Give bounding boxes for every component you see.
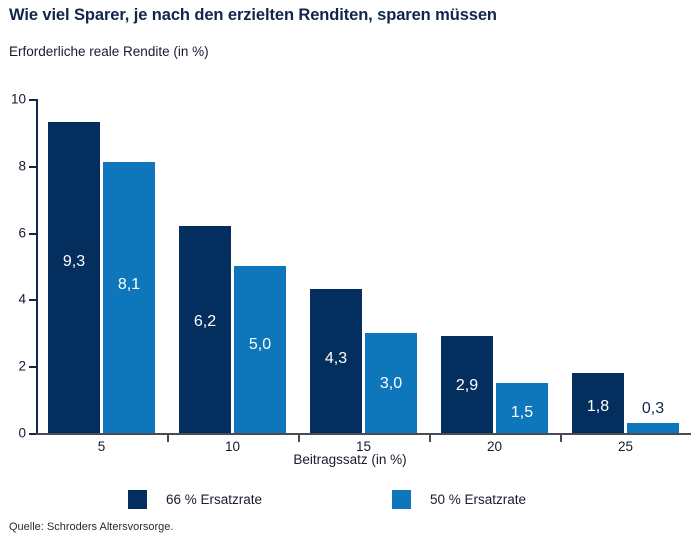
x-axis-tick-mark [298, 433, 300, 442]
bar-value-label: 1,8 [572, 398, 624, 416]
bar[interactable]: 1,8 [572, 373, 624, 433]
bar-value-label: 3,0 [365, 375, 417, 393]
bar[interactable]: 9,3 [48, 122, 100, 433]
y-axis-tick-mark [29, 433, 36, 435]
bar-value-label: 2,9 [441, 377, 493, 395]
y-axis-tick-label: 2 [18, 359, 26, 374]
bar-value-label: 8,1 [103, 276, 155, 294]
bar[interactable]: 6,2 [179, 226, 231, 433]
bar-value-label: 1,5 [496, 404, 548, 422]
y-axis-tick-mark [29, 166, 36, 168]
chart-page: Wie viel Sparer, je nach den erzielten R… [0, 0, 700, 541]
y-axis-tick-label: 6 [18, 225, 26, 240]
y-axis-tick-mark [29, 233, 36, 235]
legend-item[interactable]: 66 % Ersatzrate [128, 488, 262, 510]
plot-area: 0246810 9,38,16,25,04,33,02,91,51,80,3 5… [36, 99, 691, 433]
y-axis-tick-label: 4 [18, 292, 26, 307]
bar[interactable]: 4,3 [310, 289, 362, 433]
bar[interactable]: 2,9 [441, 336, 493, 433]
chart-legend: 66 % Ersatzrate50 % Ersatzrate [0, 488, 700, 510]
legend-item[interactable]: 50 % Ersatzrate [392, 488, 526, 510]
bar-value-label: 5,0 [234, 336, 286, 354]
y-axis-tick-mark [29, 299, 36, 301]
bar[interactable]: 5,0 [234, 266, 286, 433]
chart-subtitle: Erforderliche reale Rendite (in %) [9, 44, 209, 59]
x-axis-title: Beitragssatz (in %) [0, 452, 700, 467]
y-axis-line [36, 99, 38, 433]
y-axis-tick-label: 8 [18, 158, 26, 173]
x-axis-line [36, 433, 691, 435]
x-axis-tick-mark [167, 433, 169, 442]
x-axis-tick-mark [560, 433, 562, 442]
legend-item-label: 66 % Ersatzrate [166, 492, 262, 507]
y-axis-tick-mark [29, 366, 36, 368]
y-axis-tick-label: 10 [11, 92, 26, 107]
bar-value-label: 4,3 [310, 350, 362, 368]
legend-item-label: 50 % Ersatzrate [430, 492, 526, 507]
bar[interactable]: 3,0 [365, 333, 417, 433]
bar-value-label: 0,3 [627, 400, 679, 418]
bar-value-label: 6,2 [179, 313, 231, 331]
legend-swatch-light [392, 490, 411, 509]
legend-swatch-dark [128, 490, 147, 509]
x-axis-tick-mark [429, 433, 431, 442]
bar[interactable]: 8,1 [103, 162, 155, 433]
y-axis-tick-mark [29, 99, 36, 101]
page-title: Wie viel Sparer, je nach den erzielten R… [9, 6, 497, 25]
bar[interactable]: 1,5 [496, 383, 548, 433]
bar[interactable] [627, 423, 679, 433]
bar-value-label: 9,3 [48, 253, 100, 271]
y-axis-tick-label: 0 [18, 426, 26, 441]
source-note: Quelle: Schroders Altersvorsorge. [9, 521, 173, 533]
